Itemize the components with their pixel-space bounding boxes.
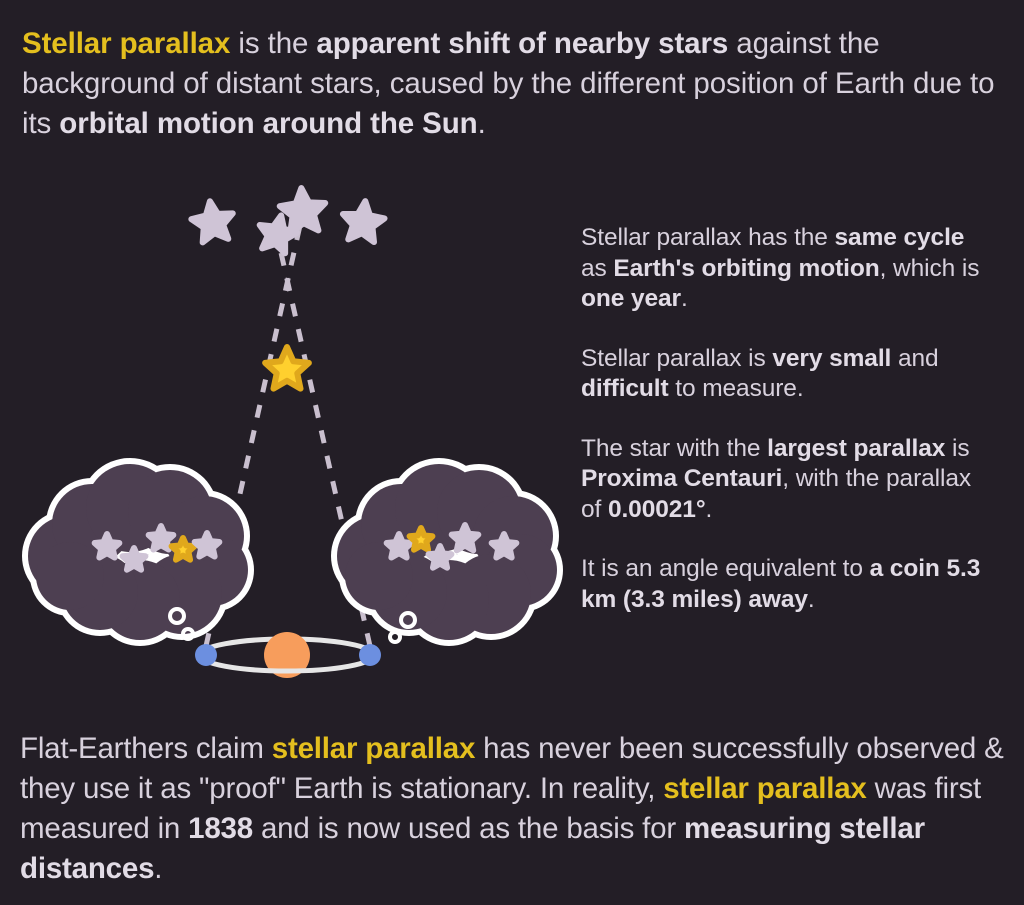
emphasis-text: same cycle <box>835 224 965 251</box>
emphasis-text: largest parallax <box>767 435 945 462</box>
earth-july <box>359 644 381 666</box>
side-paragraph-0: Stellar parallax has the same cycle as E… <box>581 223 996 315</box>
target-star <box>265 347 309 389</box>
background-star-3 <box>340 199 386 243</box>
body-text: . <box>154 852 162 885</box>
body-text: is <box>945 435 969 462</box>
thought-bubbles-group <box>22 458 563 646</box>
body-text: as <box>581 255 613 282</box>
earth-orbit-group <box>195 632 381 678</box>
side-paragraph-2: The star with the largest parallax is Pr… <box>581 434 996 526</box>
side-notes-column: Stellar parallax has the same cycle as E… <box>581 223 996 615</box>
emphasis-text: 0.00021° <box>608 496 706 523</box>
emphasis-text: difficult <box>581 375 669 402</box>
nearby-star-icon <box>265 347 309 389</box>
body-text: , which is <box>880 255 980 282</box>
emphasis-text: orbital motion around the Sun <box>59 107 477 140</box>
body-text: and <box>891 345 938 372</box>
emphasis-text: 1838 <box>188 812 253 845</box>
emphasis-text: very small <box>772 345 891 372</box>
body-text: . <box>681 285 688 312</box>
body-text: It is an angle equivalent to <box>581 555 870 582</box>
emphasis-text: one year <box>581 285 681 312</box>
background-star-0 <box>189 198 236 243</box>
body-text: Flat-Earthers claim <box>20 732 272 765</box>
emphasis-text: Proxima Centauri <box>581 465 782 492</box>
body-text: and is now used as the basis for <box>253 812 684 845</box>
parallax-diagram <box>0 175 570 700</box>
highlight-text: stellar parallax <box>272 732 475 765</box>
highlight-text: stellar parallax <box>663 772 866 805</box>
emphasis-text: apparent shift of nearby stars <box>316 27 728 60</box>
body-text: to measure. <box>669 375 804 402</box>
body-text: . <box>808 586 815 613</box>
emphasis-text: Earth's orbiting motion <box>613 255 879 282</box>
bubble-tail-dot-1 <box>390 632 400 642</box>
earth-january <box>195 644 217 666</box>
thought-bubble-left <box>22 458 254 646</box>
body-text: . <box>478 107 486 140</box>
body-text: Stellar parallax is <box>581 345 772 372</box>
body-text: . <box>706 496 713 523</box>
body-text: Stellar parallax has the <box>581 224 835 251</box>
side-paragraph-3: It is an angle equivalent to a coin 5.3 … <box>581 554 996 615</box>
intro-paragraph: Stellar parallax is the apparent shift o… <box>22 24 1012 144</box>
infographic-canvas: Stellar parallax is the apparent shift o… <box>0 0 1024 905</box>
highlight-text: Stellar parallax <box>22 27 230 60</box>
side-paragraph-1: Stellar parallax is very small and diffi… <box>581 344 996 405</box>
body-text: The star with the <box>581 435 767 462</box>
conclusion-paragraph: Flat-Earthers claim stellar parallax has… <box>20 729 1020 889</box>
background-stars-group <box>189 186 386 254</box>
body-text: is the <box>230 27 316 60</box>
